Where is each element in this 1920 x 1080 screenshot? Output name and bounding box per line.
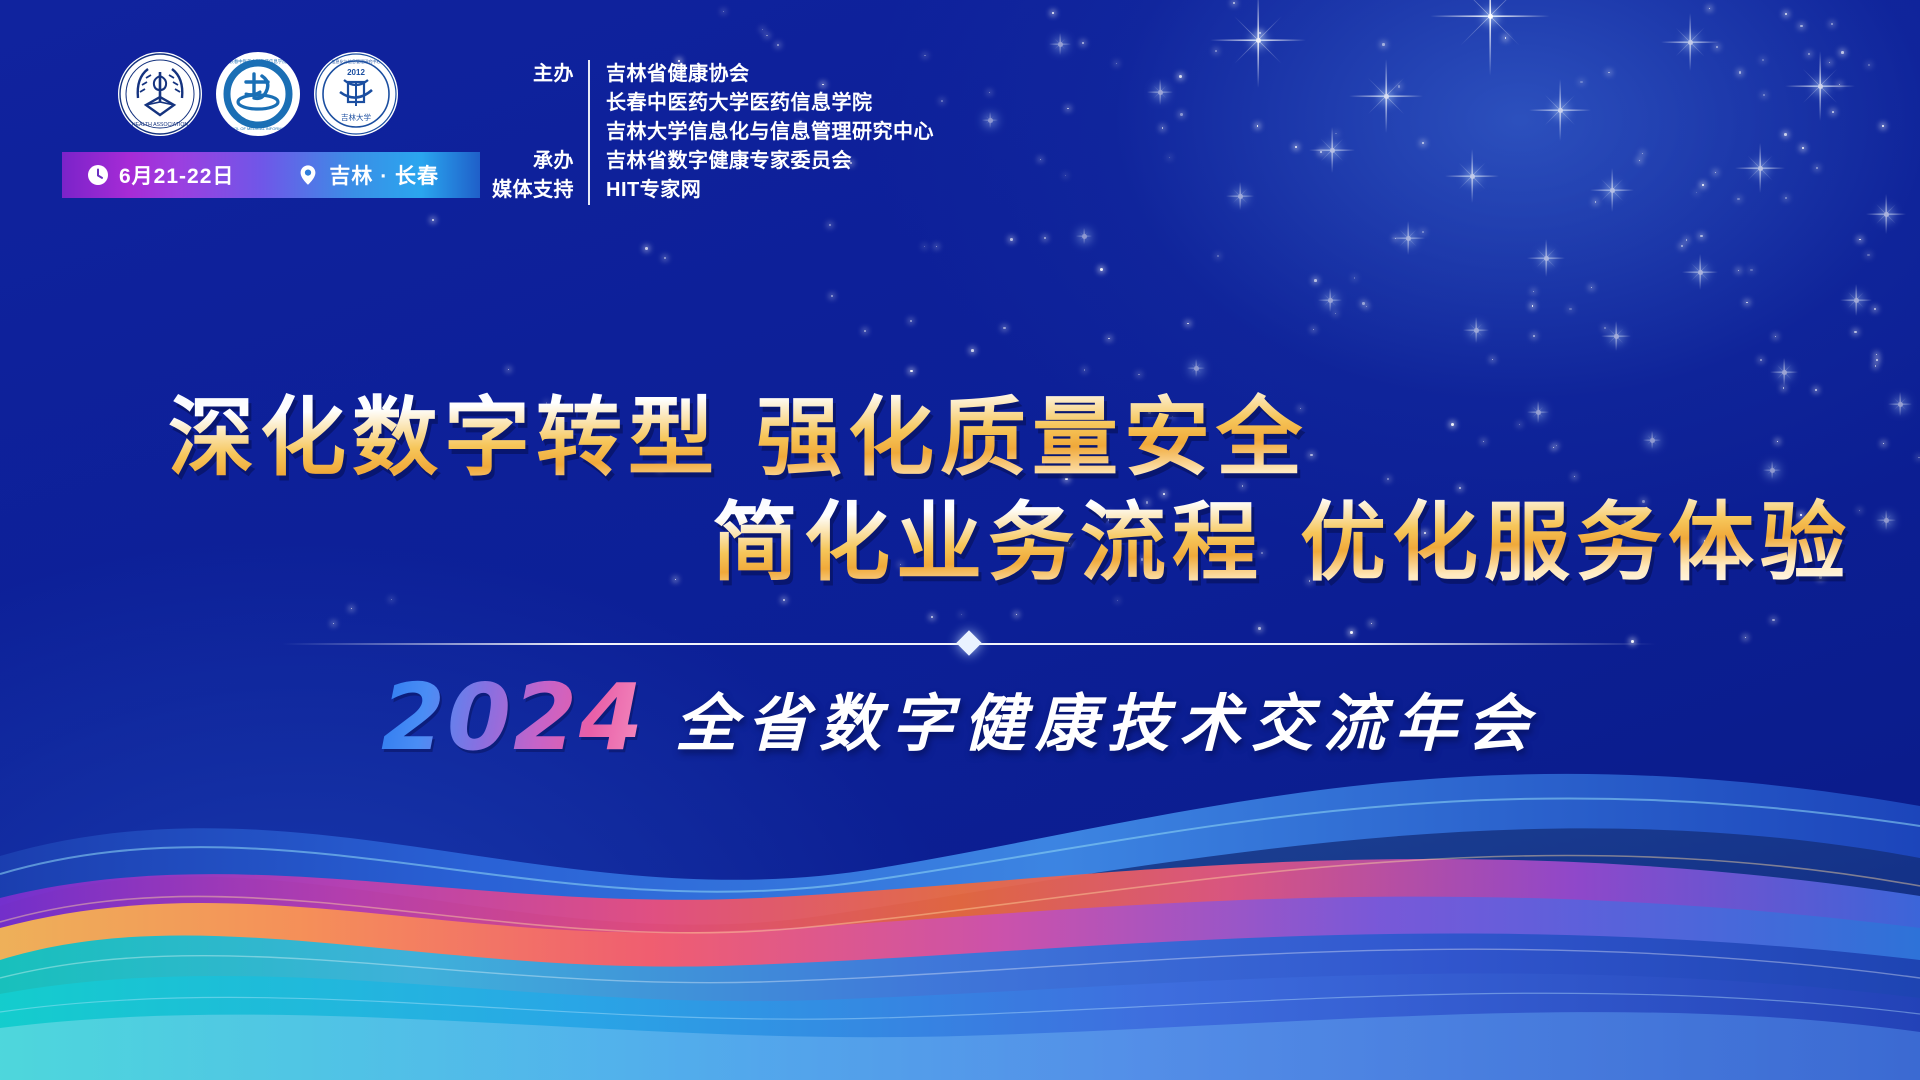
star-dot: [508, 369, 510, 371]
star-dot: [1816, 167, 1818, 169]
star-diag-2: [1054, 38, 1066, 50]
star-core: [1194, 366, 1199, 371]
location-text: 吉林 · 长春: [329, 160, 439, 190]
star-diag-2: [1691, 263, 1710, 282]
star-dot: [829, 224, 831, 226]
star-dot: [391, 599, 392, 600]
star-dot: [766, 35, 768, 37]
star-dot: [1867, 254, 1870, 257]
star-dot: [351, 608, 352, 609]
star-dot: [1696, 192, 1697, 193]
star-dot: [924, 246, 926, 248]
star-diag-1: [1777, 365, 1792, 380]
star-sparkle: [1049, 33, 1071, 55]
star-dot: [1187, 323, 1189, 325]
star-dot: [1138, 374, 1140, 376]
star-dot: [1868, 64, 1870, 66]
star-dot: [971, 349, 974, 352]
star-dot: [333, 623, 334, 624]
star-sparkle: [1661, 13, 1719, 71]
star-dot: [1313, 329, 1314, 330]
star-core: [1330, 148, 1335, 153]
star-dot: [1686, 239, 1688, 241]
star-dot: [1505, 37, 1506, 38]
star-dot: [1591, 287, 1592, 288]
star-dot: [941, 100, 943, 102]
star-dot: [1382, 43, 1384, 45]
star-sparkle: [1318, 288, 1342, 312]
organizer-label-media: 媒体支持: [492, 176, 588, 205]
organizer-line-4: 吉林省数字健康专家委员会: [606, 147, 934, 176]
star-diag-2: [1876, 204, 1897, 225]
headline-line-2: 简化业务流程 优化服务体验: [712, 497, 1920, 590]
star-dot: [783, 599, 785, 601]
map-pin-icon: [296, 163, 320, 187]
star-core: [988, 118, 993, 123]
star-dot: [1052, 12, 1055, 15]
star-dot: [1082, 42, 1084, 44]
star-dot: [910, 320, 912, 322]
star-dot: [1532, 305, 1534, 307]
conference-banner: HEALTH ASSOCIATION 长春中医药大学医药信息学院 SCHOOL …: [0, 0, 1920, 1080]
star-sparkle: [1147, 79, 1173, 105]
star-dot: [1829, 62, 1831, 64]
logo-row: HEALTH ASSOCIATION 长春中医药大学医药信息学院 SCHOOL …: [118, 52, 398, 136]
star-sparkle: [1840, 284, 1872, 316]
star-core: [1758, 166, 1763, 171]
star-dot: [1882, 125, 1884, 127]
star-diag-2: [1777, 365, 1792, 380]
star-diag-1: [1233, 189, 1248, 204]
star-sparkle: [1590, 168, 1634, 212]
star-sparkle: [1601, 321, 1631, 351]
star-dot: [1067, 108, 1069, 110]
star-dot: [1746, 302, 1748, 304]
svg-text:长春中医药大学医药信息学院: 长春中医药大学医药信息学院: [229, 58, 287, 65]
star-dot: [1716, 46, 1718, 48]
star-core: [1158, 90, 1163, 95]
divider: [282, 632, 1656, 656]
star-core: [1058, 42, 1063, 47]
star-dot: [1257, 125, 1258, 126]
organizer-label-spacer-1: ·: [567, 89, 588, 118]
changchun-tcm-university-logo: 长春中医药大学医药信息学院 SCHOOL OF MEDICAL INFORMAT…: [216, 52, 300, 136]
svg-text:SCHOOL OF MEDICAL INFORMATION: SCHOOL OF MEDICAL INFORMATION: [223, 126, 294, 131]
star-dot: [1569, 308, 1571, 310]
diamond-icon: [956, 630, 981, 655]
star-core: [1854, 298, 1859, 303]
star-dot: [1808, 53, 1810, 55]
star-dot: [1215, 50, 1217, 52]
star-dot: [1371, 623, 1372, 624]
svg-text:信息化与信息管理研究中心: 信息化与信息管理研究中心: [331, 58, 380, 64]
star-sparkle: [1770, 358, 1798, 386]
star-sparkle: [1866, 194, 1906, 234]
organizer-line-5: HIT专家网: [606, 176, 934, 205]
star-dot: [1760, 359, 1763, 362]
star-diag-2: [1367, 77, 1404, 114]
star-diag-2: [1536, 248, 1556, 268]
star-dot: [1595, 201, 1596, 202]
star-dot: [1040, 159, 1042, 161]
star-dot: [1745, 637, 1746, 638]
star-dot: [1859, 239, 1861, 241]
star-dot: [1832, 111, 1834, 113]
date-location-bar: 6月21-22日 吉林 · 长春: [62, 152, 480, 198]
star-diag-1: [1469, 323, 1483, 337]
star-diag-2: [1234, 16, 1282, 64]
star-dot: [924, 55, 925, 56]
star-diag-1: [1848, 292, 1865, 309]
organizer-label-host: 主办: [533, 60, 588, 89]
star-dot: [1320, 151, 1322, 153]
star-core: [1544, 256, 1549, 261]
organizer-line-3: 吉林大学信息化与信息管理研究中心: [606, 118, 934, 147]
svg-text:吉林大学: 吉林大学: [341, 112, 371, 122]
star-sparkle: [1785, 51, 1855, 121]
headline-line-1: 深化数字转型 强化质量安全: [168, 392, 1920, 485]
star-dot: [1783, 387, 1784, 388]
star-diag-1: [1876, 204, 1897, 225]
star-dot: [1785, 13, 1788, 16]
star-core: [1884, 212, 1889, 217]
star-sparkle: [1430, 0, 1550, 76]
star-core: [1614, 334, 1619, 339]
star-diag-1: [1675, 27, 1704, 56]
star-dot: [1854, 331, 1857, 334]
star-dot: [1010, 238, 1013, 241]
star-dot: [1533, 291, 1534, 292]
star-dot: [1785, 197, 1787, 199]
organizers-block: 主办 · · 承办 媒体支持 吉林省健康协会 长春中医药大学医药信息学院 吉林大…: [492, 60, 934, 205]
star-dot: [1604, 327, 1606, 329]
star-dot: [1642, 153, 1643, 154]
star-dot: [1117, 600, 1118, 601]
organizer-line-1: 吉林省健康协会: [606, 60, 934, 89]
wave-graphic: [0, 660, 1920, 1080]
organizer-label-spacer-2: ·: [567, 118, 588, 147]
star-diag-1: [1460, 0, 1520, 46]
star-diag-2: [1544, 94, 1575, 125]
star-dot: [1295, 146, 1298, 149]
star-diag-1: [1608, 328, 1624, 344]
organizer-line-2: 长春中医药大学医药信息学院: [606, 89, 934, 118]
star-diag-2: [1320, 138, 1343, 161]
star-dot: [1874, 308, 1876, 310]
organizer-lines: 吉林省健康协会 长春中医药大学医药信息学院 吉林大学信息化与信息管理研究中心 吉…: [588, 60, 934, 205]
star-dot: [1162, 127, 1163, 128]
star-dot: [1739, 71, 1741, 73]
star-dot: [1775, 336, 1776, 337]
star-dot: [1259, 32, 1261, 34]
star-diag-2: [1608, 328, 1624, 344]
star-diag-1: [1153, 85, 1167, 99]
star-dot: [1533, 335, 1535, 337]
star-dot: [1180, 113, 1183, 116]
star-core: [1384, 94, 1389, 99]
star-dot: [1802, 147, 1804, 149]
star-dot: [1398, 85, 1401, 88]
star-dot: [1335, 133, 1337, 135]
star-diag-1: [1324, 294, 1337, 307]
star-dot: [1639, 160, 1640, 161]
star-sparkle: [1445, 149, 1499, 203]
star-diag-2: [1153, 85, 1167, 99]
star-diag-1: [1191, 363, 1201, 373]
star-core: [1488, 14, 1493, 19]
star-diag-1: [1399, 229, 1417, 247]
star-dot: [1492, 359, 1493, 360]
star-sparkle: [1309, 127, 1355, 173]
star-diag-1: [1601, 179, 1623, 201]
star-dot: [1763, 94, 1765, 96]
star-diag-2: [1460, 0, 1520, 46]
star-dot: [1065, 175, 1066, 176]
star-dot: [1800, 25, 1803, 28]
star-dot: [936, 246, 937, 247]
star-core: [1328, 298, 1333, 303]
star-diag-2: [1601, 179, 1623, 201]
star-dot: [1875, 365, 1876, 366]
star-dot: [645, 247, 648, 250]
star-dot: [961, 614, 962, 615]
star-dot: [989, 92, 990, 93]
star-sparkle: [1076, 228, 1092, 244]
star-diag-2: [1458, 162, 1485, 189]
star-core: [1558, 108, 1563, 113]
star-core: [1256, 38, 1261, 43]
star-dot: [1831, 23, 1834, 26]
star-core: [1474, 328, 1479, 333]
star-diag-2: [1191, 363, 1201, 373]
star-sparkle: [1391, 221, 1425, 255]
star-dot: [1395, 238, 1396, 239]
jilin-health-association-logo: HEALTH ASSOCIATION: [118, 52, 202, 136]
star-core: [1688, 40, 1693, 45]
star-dot: [723, 11, 724, 12]
star-diag-1: [1054, 38, 1066, 50]
star-sparkle: [1349, 59, 1423, 133]
star-dot: [1217, 255, 1219, 257]
star-dot: [1233, 2, 1236, 5]
headline-block: 深化数字转型 强化质量安全 简化业务流程 优化服务体验: [0, 392, 1920, 590]
star-dot: [1709, 8, 1710, 9]
star-dot: [1366, 306, 1367, 307]
star-sparkle: [1187, 359, 1205, 377]
star-diag-2: [986, 116, 995, 125]
star-dot: [1116, 63, 1117, 64]
star-dot: [1169, 157, 1170, 158]
star-dot: [1084, 369, 1086, 371]
star-sparkle: [1463, 317, 1489, 343]
star-core: [1698, 270, 1703, 275]
svg-text:HEALTH ASSOCIATION: HEALTH ASSOCIATION: [132, 122, 189, 128]
clock-icon: [86, 163, 110, 187]
star-dot: [1750, 269, 1752, 271]
star-dot: [1876, 354, 1877, 355]
star-dot: [910, 370, 912, 372]
star-diag-1: [986, 116, 995, 125]
star-diag-2: [1233, 189, 1248, 204]
star-sparkle: [1226, 182, 1254, 210]
star-dot: [1841, 51, 1844, 54]
star-core: [1082, 234, 1087, 239]
star-dot: [1016, 614, 1017, 615]
star-diag-1: [1367, 77, 1404, 114]
star-sparkle: [1682, 254, 1718, 290]
star-dot: [1580, 81, 1582, 83]
star-dot: [1362, 302, 1365, 305]
star-sparkle: [1210, 0, 1306, 88]
star-dot: [1258, 627, 1260, 629]
star-core: [1610, 188, 1615, 193]
star-core: [1238, 194, 1243, 199]
star-dot: [432, 219, 434, 221]
star-dot: [1003, 327, 1006, 330]
star-dot: [1422, 142, 1424, 144]
star-dot: [777, 44, 779, 46]
organizer-labels: 主办 · · 承办 媒体支持: [492, 60, 588, 205]
star-dot: [1876, 359, 1878, 361]
star-diag-2: [1469, 323, 1483, 337]
star-diag-2: [1802, 68, 1837, 103]
star-dot: [1314, 279, 1317, 282]
star-diag-2: [1080, 232, 1089, 241]
star-dot: [1044, 237, 1046, 239]
star-dot: [1100, 268, 1103, 271]
star-dot: [1354, 277, 1356, 279]
location-item: 吉林 · 长春: [296, 160, 439, 190]
star-dot: [664, 257, 666, 259]
star-dot: [1335, 313, 1336, 314]
star-dot: [1179, 75, 1182, 78]
star-diag-1: [1747, 155, 1772, 180]
star-dot: [1772, 619, 1775, 622]
star-diag-1: [1802, 68, 1837, 103]
star-sparkle: [982, 112, 998, 128]
star-diag-1: [1458, 162, 1485, 189]
star-diag-1: [1536, 248, 1556, 268]
star-dot: [1422, 231, 1424, 233]
star-diag-2: [1399, 229, 1417, 247]
star-sparkle: [1527, 239, 1565, 277]
star-diag-2: [1324, 294, 1337, 307]
star-dot: [1839, 84, 1840, 85]
star-diag-2: [1848, 292, 1865, 309]
star-dot: [762, 29, 763, 30]
date-text: 6月21-22日: [119, 160, 234, 190]
svg-text:2012: 2012: [347, 68, 365, 77]
star-dot: [1762, 59, 1765, 62]
star-dot: [1784, 133, 1787, 136]
star-dot: [1702, 184, 1704, 186]
star-dot: [831, 295, 833, 297]
jilin-university-research-center-logo: 2012 信息化与信息管理研究中心 吉林大学: [314, 52, 398, 136]
star-dot: [1737, 198, 1739, 200]
star-diag-1: [1320, 138, 1343, 161]
star-dot: [1738, 270, 1740, 272]
star-core: [1470, 174, 1475, 179]
star-dot: [864, 330, 866, 332]
star-diag-1: [1544, 94, 1575, 125]
star-dot: [1108, 338, 1109, 339]
star-dot: [1715, 172, 1716, 173]
star-dot: [1815, 389, 1817, 391]
star-core: [1406, 236, 1411, 241]
star-core: [1782, 370, 1787, 375]
star-dot: [1700, 235, 1703, 238]
star-diag-2: [1675, 27, 1704, 56]
date-item: 6月21-22日: [86, 160, 234, 190]
organizer-label-coorganizer: 承办: [533, 147, 588, 176]
star-diag-1: [1234, 16, 1282, 64]
star-dot: [1681, 245, 1684, 248]
star-sparkle: [1529, 79, 1591, 141]
star-dot: [931, 616, 933, 618]
star-diag-1: [1080, 232, 1089, 241]
star-sparkle: [1735, 143, 1785, 193]
star-dot: [1608, 72, 1609, 73]
star-core: [1818, 84, 1823, 89]
star-diag-2: [1747, 155, 1772, 180]
star-diag-1: [1691, 263, 1710, 282]
